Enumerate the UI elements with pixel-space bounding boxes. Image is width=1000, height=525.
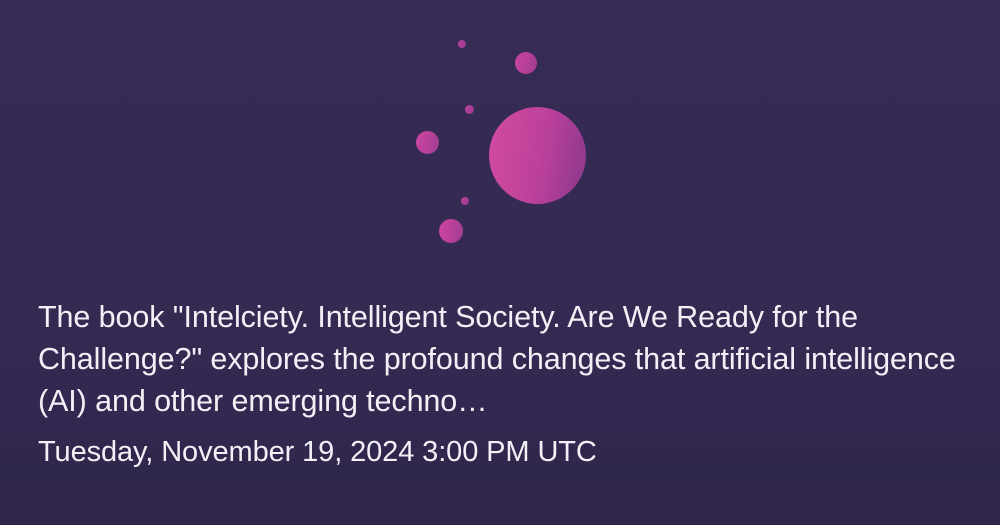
small-dot-top-icon bbox=[458, 40, 466, 48]
event-datetime: Tuesday, November 19, 2024 3:00 PM UTC bbox=[38, 422, 968, 472]
medium-orb-top-icon bbox=[515, 52, 537, 74]
event-share-card: The book "Intelciety. Intelligent Societ… bbox=[0, 0, 1000, 525]
large-orb-icon bbox=[489, 107, 586, 204]
small-dot-middle-icon bbox=[465, 105, 474, 114]
orb-cluster-graphic bbox=[0, 0, 1000, 280]
event-description: The book "Intelciety. Intelligent Societ… bbox=[38, 296, 968, 422]
medium-orb-bottom-icon bbox=[439, 219, 463, 243]
medium-orb-left-icon bbox=[416, 131, 439, 154]
small-dot-bottom-icon bbox=[461, 197, 469, 205]
text-block: The book "Intelciety. Intelligent Societ… bbox=[38, 296, 968, 472]
